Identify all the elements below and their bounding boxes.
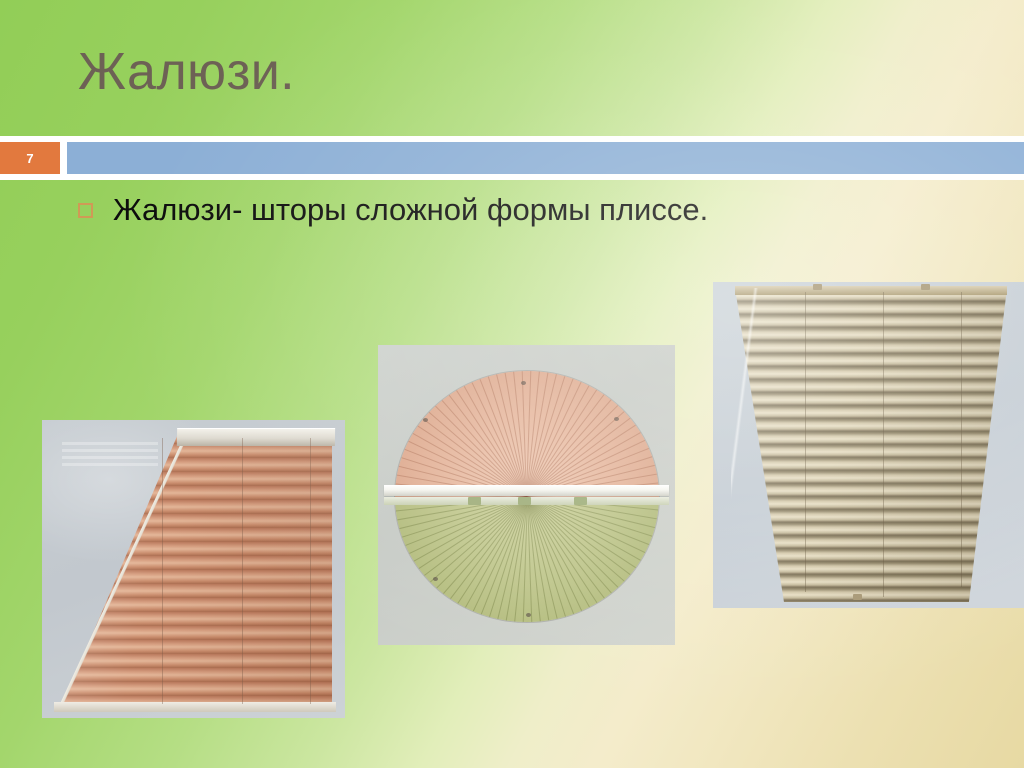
ladder-cord [883,292,884,597]
rail-clip [574,497,587,505]
upper-fan-half [395,371,659,497]
square-outline-bullet-icon [78,203,93,218]
lower-fan-half [395,497,659,623]
center-rail [384,485,669,496]
ladder-cord [805,292,806,592]
divider-band: 7 [0,136,1024,180]
mounting-screw [433,577,438,581]
venetian-shading [735,288,1007,602]
ladder-cord [961,292,962,587]
slide: Жалюзи. 7 Жалюзи- шторы сложной формы пл… [0,0,1024,768]
rail-clip [518,497,531,505]
head-rail [735,286,1007,295]
lift-cord [162,438,163,704]
image-circular-fan-blind [378,345,675,645]
lift-cord [242,438,243,704]
mounting-screw [423,418,428,422]
page-title: Жалюзи. [78,42,958,102]
left-tilt-edge [731,288,771,602]
mounting-bracket [921,284,930,290]
mounting-bracket [813,284,822,290]
image-pleated-trapezoid-blind [42,420,345,718]
diagonal-rail-edge [58,432,188,712]
rail-clip [468,497,481,505]
lift-cord [310,438,311,704]
divider-band-accent [67,142,1024,174]
fan-pleat-line [527,497,641,596]
slide-number-badge: 7 [0,142,60,174]
mounting-screw [521,381,526,385]
mounting-screw [614,417,619,421]
bullet-list-item: Жалюзи- шторы сложной формы плиссе. [78,190,708,230]
bullet-item-label: Жалюзи- шторы сложной формы плиссе. [113,190,708,230]
image-venetian-trapezoid-blind [713,282,1024,608]
mounting-screw [526,613,531,617]
bottom-rail [54,702,336,712]
head-rail [177,428,335,446]
mounting-bracket [853,594,862,600]
